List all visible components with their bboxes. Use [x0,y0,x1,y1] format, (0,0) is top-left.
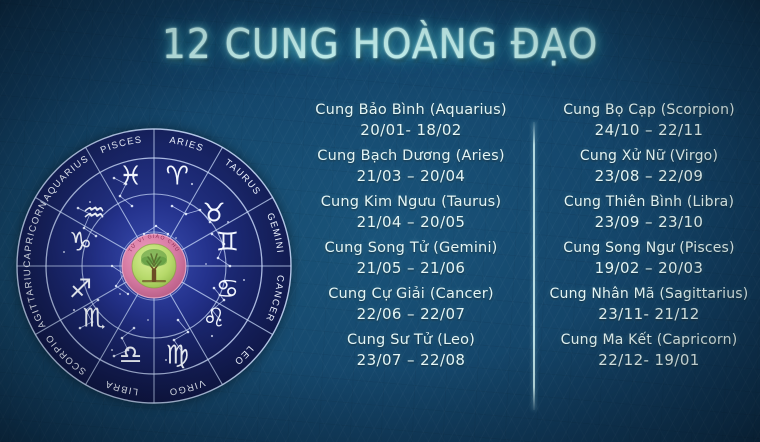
sign-list-left: Cung Bảo Bình (Aquarius) 20/01- 18/02 Cu… [292,100,530,430]
sign-name: Cung Song Ngư (Pisces) [540,238,758,258]
column-divider [533,122,535,410]
wheel-symbol-aquarius: ♒ [82,198,105,228]
list-item: Cung Thiên Bình (Libra) 23/09 – 23/10 [540,192,758,232]
list-item: Cung Song Tử (Gemini) 21/05 – 21/06 [292,238,530,278]
sign-name: Cung Ma Kết (Capricorn) [540,330,758,350]
sign-dates: 21/05 – 21/06 [292,258,530,278]
sign-dates: 19/02 – 20/03 [540,258,758,278]
wheel-symbol-aries: ♈ [166,162,189,192]
wheel-symbol-capricorn: ♑ [69,228,92,258]
sign-name: Cung Thiên Bình (Libra) [540,192,758,212]
center-emblem: TỬ VI GIÁO CHỦ [122,233,186,298]
wheel-symbol-taurus: ♉ [202,198,225,228]
sign-name: Cung Cự Giải (Cancer) [292,284,530,304]
sign-dates: 22/12- 19/01 [540,350,758,370]
sign-name: Cung Sư Tử (Leo) [292,330,530,350]
list-item: Cung Cự Giải (Cancer) 22/06 – 22/07 [292,284,530,324]
sign-name: Cung Bọ Cạp (Scorpion) [540,100,758,120]
sign-dates: 22/06 – 22/07 [292,304,530,324]
sign-dates: 24/10 – 22/11 [540,120,758,140]
list-item: Cung Song Ngư (Pisces) 19/02 – 20/03 [540,238,758,278]
sign-name: Cung Song Tử (Gemini) [292,238,530,258]
sign-name: Cung Kim Ngưu (Taurus) [292,192,530,212]
wheel-symbol-scorpio: ♏ [82,304,105,334]
page-title: 12 CUNG HOÀNG ĐẠO [30,20,729,68]
list-item: Cung Sư Tử (Leo) 23/07 – 22/08 [292,330,530,370]
wheel-symbol-gemini: ♊ [216,228,239,258]
poster-root: 12 CUNG HOÀNG ĐẠO [0,0,760,442]
list-item: Cung Ma Kết (Capricorn) 22/12- 19/01 [540,330,758,370]
sign-dates: 23/08 – 22/09 [540,166,758,186]
sign-list-right: Cung Bọ Cạp (Scorpion) 24/10 – 22/11 Cun… [540,100,758,430]
sign-dates: 21/03 – 20/04 [292,166,530,186]
wheel-symbol-sagittarius: ♐ [69,274,92,304]
wheel-symbol-leo: ♌ [202,304,225,334]
list-item: Cung Kim Ngưu (Taurus) 21/04 – 20/05 [292,192,530,232]
sign-name: Cung Bạch Dương (Aries) [292,146,530,166]
wheel-symbol-cancer: ♋ [216,274,239,304]
sign-name: Cung Xử Nữ (Virgo) [540,146,758,166]
sign-dates: 23/09 – 23/10 [540,212,758,232]
sign-name: Cung Nhân Mã (Sagittarius) [540,284,758,304]
zodiac-wheel: ARIES TAURUS GEMINI CANCER LEO VIRGO LIB… [16,114,292,410]
sign-dates: 23/11- 21/12 [540,304,758,324]
wheel-symbol-libra: ♎ [119,340,142,370]
list-item: Cung Nhân Mã (Sagittarius) 23/11- 21/12 [540,284,758,324]
sign-dates: 21/04 – 20/05 [292,212,530,232]
list-item: Cung Xử Nữ (Virgo) 23/08 – 22/09 [540,146,758,186]
list-item: Cung Bọ Cạp (Scorpion) 24/10 – 22/11 [540,100,758,140]
sign-dates: 23/07 – 22/08 [292,350,530,370]
sign-dates: 20/01- 18/02 [292,120,530,140]
list-item: Cung Bảo Bình (Aquarius) 20/01- 18/02 [292,100,530,140]
sign-name: Cung Bảo Bình (Aquarius) [292,100,530,120]
wheel-symbol-virgo: ♍ [166,340,189,370]
wheel-symbol-pisces: ♓ [119,162,142,192]
list-item: Cung Bạch Dương (Aries) 21/03 – 20/04 [292,146,530,186]
